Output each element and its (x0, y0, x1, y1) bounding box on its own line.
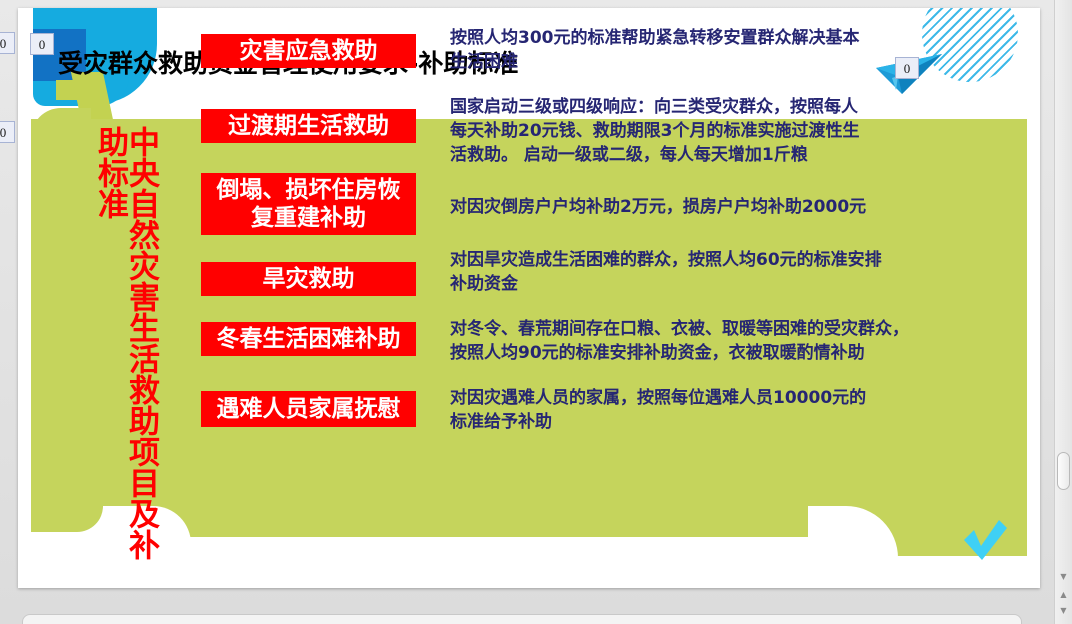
category-label-5: 冬春生活困难补助 (201, 322, 416, 356)
zero-badge-header[interactable]: 0 (30, 33, 54, 55)
presentation-window: 受灾群众救助资金管理使用要求-补助标准 中央自然灾害生活救助项目及补助标准 灾害… (0, 0, 1072, 624)
category-desc-6: 对因灾遇难人员的家属，按照每位遇难人员10000元的 标准给予补助 (450, 386, 1010, 434)
zero-badge-left-top[interactable]: 0 (0, 32, 15, 54)
zero-badge-left-bottom[interactable]: 0 (0, 121, 15, 143)
check-mark-icon (962, 520, 1008, 562)
category-desc-4: 对因旱灾造成生活困难的群众，按照人均60元的标准安排 补助资金 (450, 248, 1020, 296)
notes-pane[interactable] (22, 614, 1022, 624)
category-label-3: 倒塌、损坏住房恢 复重建补助 (201, 173, 416, 235)
category-desc-5: 对冬令、春荒期间存在口粮、衣被、取暖等困难的受灾群众， 按照人均90元的标准安排… (450, 317, 1030, 365)
category-label-4: 旱灾救助 (201, 262, 416, 296)
vertical-section-heading: 中央自然灾害生活救助项目及补助标准 (110, 126, 156, 572)
category-label-6: 遇难人员家属抚慰 (201, 391, 416, 427)
category-desc-2: 国家启动三级或四级响应：向三类受灾群众，按照每人 每天补助20元钱、救助期限3个… (450, 95, 1010, 167)
zero-badge-plane[interactable]: 0 (895, 57, 919, 79)
previous-slide-icon[interactable]: ▲ (1057, 588, 1070, 601)
category-desc-1: 按照人均300元的标准帮助紧急转移安置群众解决基本 生活困难 (450, 26, 1010, 74)
slide-canvas[interactable]: 受灾群众救助资金管理使用要求-补助标准 中央自然灾害生活救助项目及补助标准 灾害… (18, 8, 1040, 588)
category-label-1: 灾害应急救助 (201, 34, 416, 68)
scrollbar-thumb[interactable] (1057, 452, 1070, 490)
category-label-2: 过渡期生活救助 (201, 109, 416, 143)
vertical-scrollbar[interactable]: ▼ ▲ ▼ (1054, 0, 1072, 624)
category-desc-3: 对因灾倒房户户均补助2万元，损房户户均补助2000元 (450, 195, 1010, 219)
scroll-down-icon[interactable]: ▼ (1057, 570, 1070, 583)
next-slide-icon[interactable]: ▼ (1057, 604, 1070, 617)
